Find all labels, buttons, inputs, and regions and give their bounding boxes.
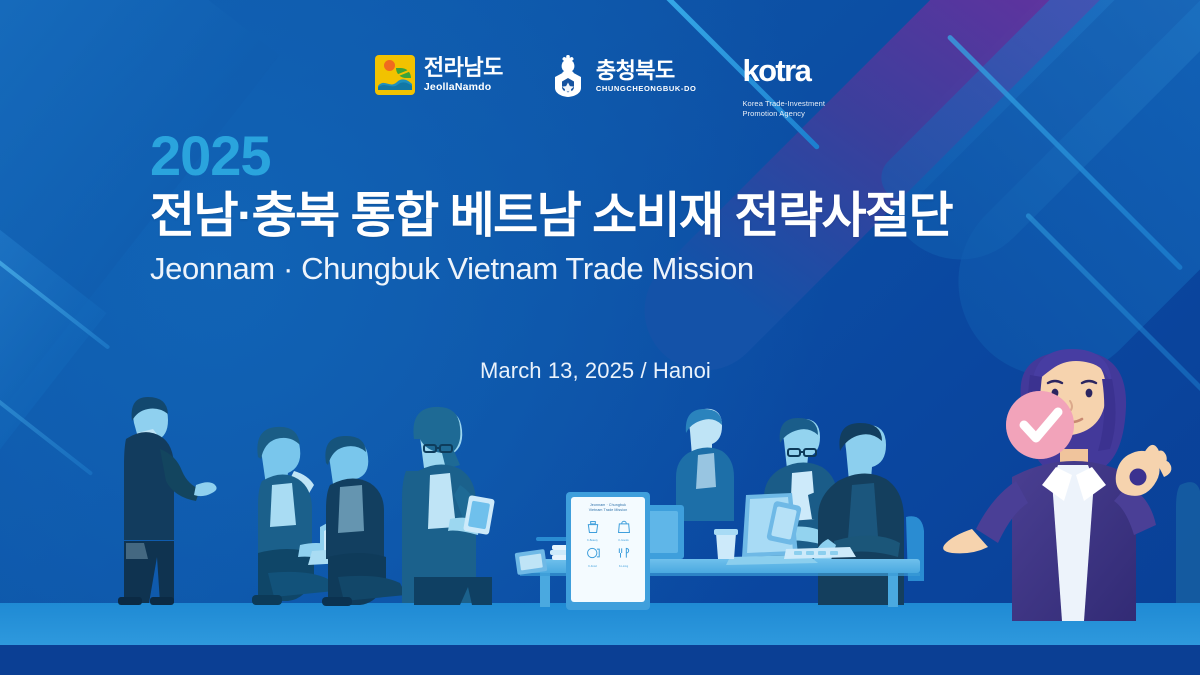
logo-jeollanamdo: 전라남도 JeollaNamdo [375,55,503,95]
logo-jeollanamdo-name-kr: 전라남도 [424,57,503,79]
shopping-bag-icon [616,520,632,534]
figure-seated-man-a [322,436,406,606]
food-package-icon [585,546,601,560]
keyboard-icon [784,547,856,559]
screen-tile-label-1: K-Goods [610,539,637,542]
diagonal-line-left-1 [0,254,110,350]
screen-tile-k-beauty: K-Beauty [579,520,606,542]
footer-bar [0,645,1200,675]
kotra-subtitle-line1: Korea Trade-Investment [742,99,825,108]
kotra-subtitle: Korea Trade-InvestmentPromotion Agency [742,99,825,119]
ok-hand-icon [1116,445,1172,496]
coffee-cup-icon [714,529,738,559]
screen-tile-k-food: K-Food [579,546,606,568]
logo-chungcheongbukdo-name-en: CHUNGCHEONGBUK-DO [596,85,697,93]
figure-woman-glasses-tablet [402,407,495,605]
jeollanamdo-emblem-icon [375,55,415,95]
headline-block: 2025 전남·충북 통합 베트남 소비재 전략사절단 Jeonnam · Ch… [150,128,952,284]
screen-tile-label-0: K-Beauty [579,539,606,542]
logo-chungcheongbukdo: 충청북도 CHUNGCHEONGBUK-DO [549,55,697,97]
kitchenware-icon [616,546,632,560]
cosmetics-jar-icon [585,520,601,534]
figure-man-foreground [814,423,924,605]
presentation-screen-panel: Jeonnam · Chungbuk Vietnam Trade Mission… [566,492,650,610]
chungcheongbukdo-emblem-icon [549,55,587,97]
logo-chungcheongbukdo-name-kr: 충청북도 [596,60,697,82]
screen-tile-k-living: K-Living [610,546,637,568]
screen-heading-line2: Vietnam Trade Mission [575,508,641,513]
event-title-korean: 전남·충북 통합 베트남 소비재 전략사절단 [150,190,952,243]
check-circle-icon [1006,391,1074,459]
screen-tile-k-goods: K-Goods [610,520,637,542]
screen-tile-label-3: K-Living [610,565,637,568]
logo-jeollanamdo-name-en: JeollaNamdo [424,82,503,93]
figure-woman-ok-gesture [943,349,1171,621]
event-year: 2025 [150,128,952,184]
figure-presenter [118,397,217,605]
kotra-subtitle-line2: Promotion Agency [742,109,804,118]
event-date-location: March 13, 2025 / Hanoi [480,358,711,384]
sponsor-logo-row: 전라남도 JeollaNamdo [0,55,1200,119]
screen-tile-label-2: K-Food [579,565,606,568]
event-title-english: Jeonnam · Chungbuk Vietnam Trade Mission [150,253,952,284]
figure-partial-right [1176,482,1200,603]
kotra-wordmark: kotra [742,55,810,86]
figure-woman-at-monitor [676,409,734,521]
logo-kotra: kotra Korea Trade-InvestmentPromotion Ag… [742,55,825,119]
event-poster: 전라남도 JeollaNamdo [0,0,1200,675]
